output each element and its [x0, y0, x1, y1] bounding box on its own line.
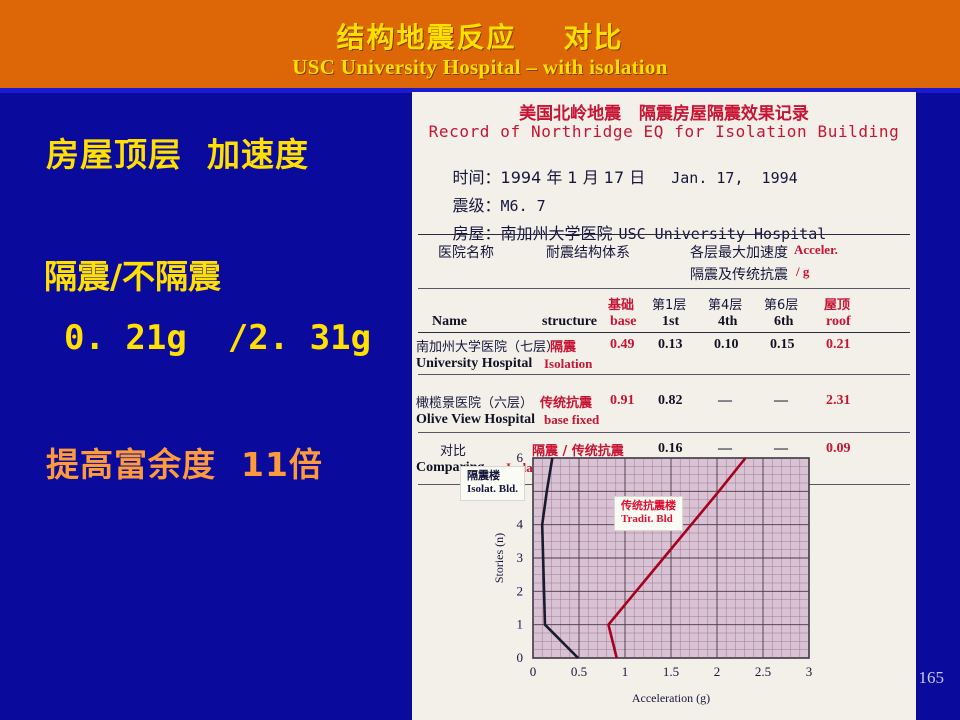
group-header-max-acceleration: 各层最大加速度 — [690, 242, 788, 262]
meta-date-value-en: Jan. 17, 1994 — [671, 169, 797, 187]
col-head-en-base: base — [610, 314, 636, 330]
group-header-structure-system: 耐震结构体系 — [546, 242, 630, 262]
row1-value-roof: 0.21 — [826, 337, 851, 353]
slide-header-band: 结构地震反应 对比 USC University Hospital – with… — [0, 0, 960, 88]
x-tick-label: 1.5 — [663, 664, 679, 679]
table-rule-top — [418, 234, 910, 235]
legend-traditional-label-cn: 传统抗震楼 — [621, 499, 676, 513]
row2-value-roof: 2.31 — [826, 393, 851, 409]
row1-value-4th: 0.10 — [714, 337, 739, 353]
row2-value-4th: — — [718, 393, 732, 409]
group-header-unit-g: / g — [796, 264, 809, 280]
legend-isolation-building: 隔震楼 Isolat. Bld. — [460, 466, 525, 501]
slide-title-english: USC University Hospital – with isolation — [0, 55, 960, 80]
x-tick-label: 0.5 — [571, 664, 587, 679]
legend-isolation-label-cn: 隔震楼 — [467, 469, 518, 483]
row2-value-6th: — — [774, 393, 788, 409]
y-tick-label: 0 — [517, 650, 524, 665]
annotation-roof-acceleration: 房屋顶层 加速度 — [46, 128, 309, 176]
x-tick-label: 2 — [714, 664, 721, 679]
annotation-isolation-ratio-label: 隔震/不隔震 — [44, 250, 221, 298]
y-axis-title: Stories (n) — [492, 533, 506, 583]
slide-root: 结构地震反应 对比 USC University Hospital – with… — [0, 0, 960, 720]
group-header-isolation-vs-traditional: 隔震及传统抗震 — [690, 264, 788, 284]
table-rule-row1 — [418, 374, 910, 375]
row2-structure-en: base fixed — [544, 412, 599, 428]
document-title-chinese: 美国北岭地震 隔震房屋隔震效果记录 — [412, 99, 916, 124]
col-head-en-6th: 6th — [774, 314, 793, 330]
row2-structure-cn: 传统抗震 — [540, 392, 592, 411]
x-tick-label: 3 — [806, 664, 813, 679]
table-rule-under-col-head — [418, 332, 910, 333]
col-head-en-structure: structure — [542, 314, 597, 330]
x-axis-tick-labels: 00.511.522.53 — [530, 664, 813, 679]
legend-isolation-label-en: Isolat. Bld. — [467, 483, 518, 497]
row1-structure-en: Isolation — [544, 356, 592, 372]
row1-name-en: University Hospital — [416, 356, 532, 372]
annotation-isolation-ratio-values: 0. 21g /2. 31g — [64, 318, 371, 358]
group-header-hospital-name: 医院名称 — [438, 242, 494, 262]
y-tick-label: 4 — [517, 517, 524, 532]
row1-name-cn: 南加州大学医院（七层） — [416, 336, 559, 355]
col-head-cn-4th: 第4层 — [708, 294, 742, 313]
x-tick-label: 1 — [622, 664, 629, 679]
row2-name-en: Olive View Hospital — [416, 412, 535, 428]
row1-structure-cn: 隔震 — [550, 336, 576, 355]
slide-title-chinese: 结构地震反应 对比 — [0, 16, 960, 56]
col-head-cn-1st: 第1层 — [652, 294, 686, 313]
scanned-document-panel: 美国北岭地震 隔震房屋隔震效果记录 Record of Northridge E… — [412, 92, 916, 720]
acceleration-story-chart: 00.511.522.53 0123456 Acceleration (g) S… — [418, 444, 910, 712]
annotation-safety-margin: 提高富余度 11倍 — [46, 438, 323, 486]
row2-value-1st: 0.82 — [658, 393, 683, 409]
col-head-cn-6th: 第6层 — [764, 294, 798, 313]
col-head-en-roof: roof — [826, 314, 851, 330]
page-number: 165 — [919, 668, 945, 688]
col-head-en-name: Name — [432, 314, 467, 330]
legend-traditional-building: 传统抗震楼 Tradit. Bld — [614, 496, 683, 531]
y-tick-label: 3 — [517, 550, 524, 565]
row2-value-base: 0.91 — [610, 393, 635, 409]
x-tick-label: 0 — [530, 664, 537, 679]
col-head-cn-roof: 屋顶 — [824, 294, 850, 313]
table-rule-under-group-head — [418, 288, 910, 289]
legend-traditional-label-en: Tradit. Bld — [621, 513, 676, 527]
row1-value-1st: 0.13 — [658, 337, 683, 353]
group-header-acceler-label: Acceler. — [794, 242, 838, 258]
row1-value-6th: 0.15 — [770, 337, 795, 353]
x-axis-title: Acceleration (g) — [632, 691, 710, 705]
col-head-en-4th: 4th — [718, 314, 737, 330]
x-tick-label: 2.5 — [755, 664, 771, 679]
y-tick-label: 1 — [517, 617, 524, 632]
row2-name-cn: 橄榄景医院（六层） — [416, 392, 533, 411]
col-head-cn-base: 基础 — [608, 294, 634, 313]
row1-value-base: 0.49 — [610, 337, 635, 353]
y-tick-label: 2 — [517, 583, 524, 598]
y-tick-label: 6 — [517, 450, 524, 465]
col-head-en-1st: 1st — [662, 314, 679, 330]
table-rule-row2 — [418, 432, 910, 433]
document-title-english: Record of Northridge EQ for Isolation Bu… — [412, 122, 916, 141]
